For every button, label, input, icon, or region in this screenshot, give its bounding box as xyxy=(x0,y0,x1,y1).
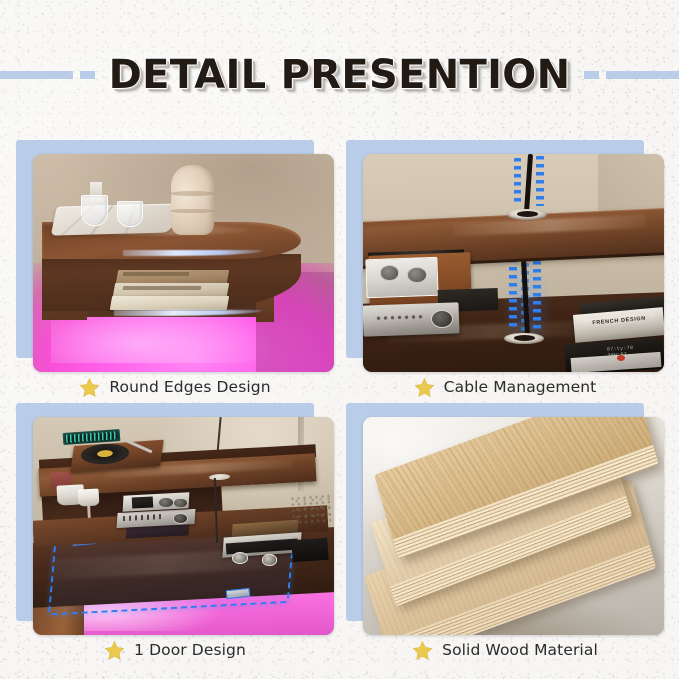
card-photo-cable-management: FRENCH DESIGN 87:ty:78 3HH:P7 xyxy=(363,154,664,372)
lamp-groove xyxy=(170,191,215,196)
page-title: DETAIL PRESENTION xyxy=(109,55,571,95)
card-caption: Round Edges Design xyxy=(16,372,334,402)
marble-tray xyxy=(51,204,178,237)
card-photo-one-door xyxy=(33,417,334,635)
ceramic-mug xyxy=(78,488,100,507)
detail-card-solid-wood[interactable]: Solid Wood Material xyxy=(346,403,664,665)
book-title-bar xyxy=(123,286,202,290)
media-device-side xyxy=(291,538,329,562)
square-dot-icon xyxy=(584,71,599,79)
glass-cup xyxy=(81,195,108,226)
card-caption-label: Cable Management xyxy=(444,378,597,396)
card-caption: Solid Wood Material xyxy=(346,635,664,665)
cable-route-indicator xyxy=(514,158,522,206)
star-icon xyxy=(79,377,100,398)
cable-route-indicator xyxy=(536,156,544,206)
book-stack-item xyxy=(110,296,230,310)
card-photo-solid-wood xyxy=(363,417,664,635)
detail-card-round-edges[interactable]: Round Edges Design xyxy=(16,140,334,402)
cable-grommet-hole xyxy=(517,211,538,217)
glass-cup xyxy=(117,201,143,227)
page-header: DETAIL PRESENTION xyxy=(0,44,679,106)
radio-front-panel xyxy=(365,256,439,298)
star-icon xyxy=(414,377,435,398)
detail-card-cable-management[interactable]: FRENCH DESIGN 87:ty:78 3HH:P7 Cable Mana… xyxy=(346,140,664,402)
card-photo-round-edges xyxy=(33,154,334,372)
detail-card-grid: Round Edges Design xyxy=(16,140,664,665)
header-divider-left xyxy=(0,71,95,79)
cable-route-indicator xyxy=(509,259,517,331)
book-title-bar xyxy=(123,272,190,276)
media-device-led xyxy=(617,355,625,361)
card-caption-label: Solid Wood Material xyxy=(442,641,598,659)
ceramic-lamp-base xyxy=(171,165,213,235)
speaker-cone xyxy=(262,554,278,565)
star-icon xyxy=(412,640,433,661)
marble-veins xyxy=(51,204,178,237)
header-divider-right xyxy=(584,71,679,79)
horizontal-rule-bar-icon xyxy=(0,71,73,79)
card-caption: Cable Management xyxy=(346,372,664,402)
detail-card-one-door[interactable]: 1 Door Design xyxy=(16,403,334,665)
cable-route-indicator xyxy=(533,261,541,333)
cable-grommet-hole xyxy=(514,335,535,341)
radio-knob xyxy=(407,267,427,283)
square-dot-icon xyxy=(80,71,95,79)
card-caption: 1 Door Design xyxy=(16,635,334,665)
radio-knob xyxy=(380,265,400,281)
horizontal-rule-bar-icon xyxy=(606,71,679,79)
card-caption-label: Round Edges Design xyxy=(109,378,270,396)
receiver-knob xyxy=(159,498,172,508)
card-caption-label: 1 Door Design xyxy=(134,641,246,659)
star-icon xyxy=(104,640,125,661)
receiver-knob xyxy=(174,499,186,508)
receiver-display xyxy=(132,496,154,508)
